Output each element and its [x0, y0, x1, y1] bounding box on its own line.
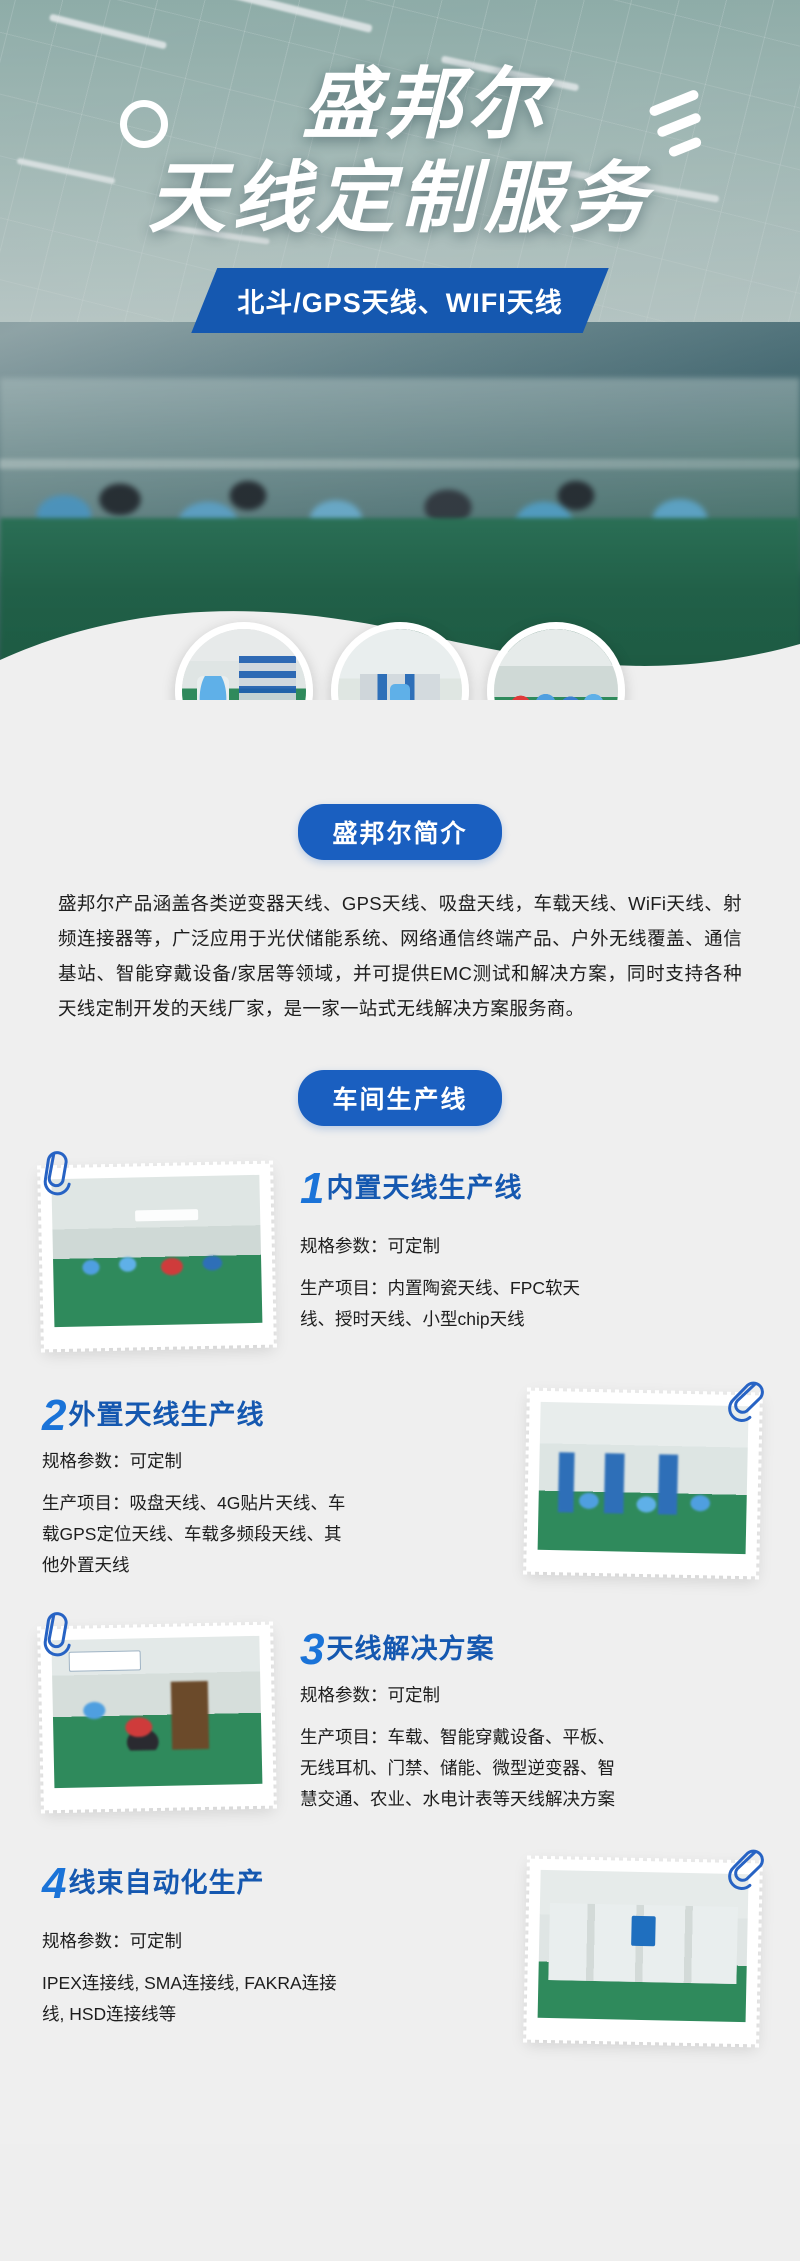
workshop-item-3-photo-card — [42, 1627, 272, 1808]
workshop-item-4-number: 4 — [42, 1859, 66, 1908]
workshop-item-3-title: 3天线解决方案 — [300, 1627, 494, 1672]
workshop-item-4-title: 4线束自动化生产 — [42, 1861, 264, 1906]
workshop-heading: 车间生产线 — [298, 1070, 501, 1126]
workshop-item-3-text: 3天线解决方案 规格参数：可定制 生产项目：车载、智能穿戴设备、平板、无线耳机、… — [272, 1627, 758, 1815]
paperclip-icon — [720, 1837, 769, 1899]
hero-banner: 盛邦尔 天线定制服务 北斗/GPS天线、WIFI天线 — [0, 0, 800, 700]
paperclip-icon — [30, 1603, 79, 1665]
workshop-item-1: 1内置天线生产线 规格参数：可定制 生产项目：内置陶瓷天线、FPC软天线、授时天… — [0, 1166, 800, 1347]
workshop-thumbnails — [0, 622, 800, 700]
intro-heading: 盛邦尔简介 — [298, 804, 501, 860]
workshop-item-1-projects: 生产项目：内置陶瓷天线、FPC软天线、授时天线、小型chip天线 — [300, 1273, 610, 1335]
promo-page: 盛邦尔 天线定制服务 北斗/GPS天线、WIFI天线 盛邦尔简介 盛邦尔产品涵盖… — [0, 0, 800, 2144]
workshop-item-1-title-text: 内置天线生产线 — [326, 1173, 522, 1203]
workshop-item-3-number: 3 — [300, 1625, 324, 1674]
workshop-item-2-image — [538, 1402, 749, 1554]
workshop-item-2-spec: 规格参数：可定制 — [42, 1446, 500, 1476]
workshop-item-3-title-text: 天线解决方案 — [326, 1634, 494, 1664]
workshop-item-list: 1内置天线生产线 规格参数：可定制 生产项目：内置陶瓷天线、FPC软天线、授时天… — [0, 1166, 800, 2144]
workshop-item-1-photo-card — [42, 1166, 272, 1347]
workshop-item-4-title-text: 线束自动化生产 — [68, 1868, 264, 1898]
workshop-thumb-1 — [175, 622, 313, 700]
workshop-item-1-text: 1内置天线生产线 规格参数：可定制 生产项目：内置陶瓷天线、FPC软天线、授时天… — [272, 1166, 758, 1335]
hero-title-line2: 天线定制服务 — [0, 150, 800, 246]
workshop-item-2-title-text: 外置天线生产线 — [68, 1400, 264, 1430]
slash-marks-icon — [642, 96, 712, 154]
intro-heading-wrap: 盛邦尔简介 — [0, 804, 800, 860]
workshop-item-1-number: 1 — [300, 1164, 324, 1213]
workshop-item-1-spec: 规格参数：可定制 — [300, 1231, 758, 1261]
workshop-item-2-text: 2外置天线生产线 规格参数：可定制 生产项目：吸盘天线、4G贴片天线、车载GPS… — [42, 1393, 528, 1581]
workshop-item-4-spec: 规格参数：可定制 — [42, 1926, 500, 1956]
workshop-item-1-image — [51, 1175, 262, 1327]
workshop-thumb-2 — [331, 622, 469, 700]
circle-outline-icon — [120, 100, 168, 148]
workshop-item-2-number: 2 — [42, 1391, 66, 1440]
workshop-heading-wrap: 车间生产线 — [0, 1070, 800, 1126]
workshop-item-1-title: 1内置天线生产线 — [300, 1166, 522, 1211]
workshop-item-2-title: 2外置天线生产线 — [42, 1393, 264, 1438]
workshop-item-4-projects: IPEX连接线, SMA连接线, FAKRA连接线, HSD连接线等 — [42, 1968, 352, 2030]
workshop-item-3-projects: 生产项目：车载、智能穿戴设备、平板、无线耳机、门禁、储能、微型逆变器、智慧交通、… — [300, 1722, 630, 1815]
workshop-item-3-spec: 规格参数：可定制 — [300, 1680, 758, 1710]
workshop-item-4: 4线束自动化生产 规格参数：可定制 IPEX连接线, SMA连接线, FAKRA… — [0, 1861, 800, 2042]
workshop-item-2-projects: 生产项目：吸盘天线、4G贴片天线、车载GPS定位天线、车载多频段天线、其他外置天… — [42, 1488, 352, 1581]
hero-category-badge: 北斗/GPS天线、WIFI天线 — [191, 268, 609, 333]
workshop-item-2: 2外置天线生产线 规格参数：可定制 生产项目：吸盘天线、4G贴片天线、车载GPS… — [0, 1393, 800, 1581]
workshop-item-4-text: 4线束自动化生产 规格参数：可定制 IPEX连接线, SMA连接线, FAKRA… — [42, 1861, 528, 2030]
workshop-item-3-image — [51, 1636, 262, 1788]
workshop-item-2-photo-card — [528, 1393, 758, 1574]
workshop-item-3: 3天线解决方案 规格参数：可定制 生产项目：车载、智能穿戴设备、平板、无线耳机、… — [0, 1627, 800, 1815]
paperclip-icon — [30, 1142, 79, 1204]
workshop-thumb-3 — [487, 622, 625, 700]
workshop-item-4-photo-card — [528, 1861, 758, 2042]
intro-body-text: 盛邦尔产品涵盖各类逆变器天线、GPS天线、吸盘天线，车载天线、WiFi天线、射频… — [58, 886, 742, 1026]
workshop-item-4-image — [538, 1870, 749, 2022]
paperclip-icon — [720, 1369, 769, 1431]
